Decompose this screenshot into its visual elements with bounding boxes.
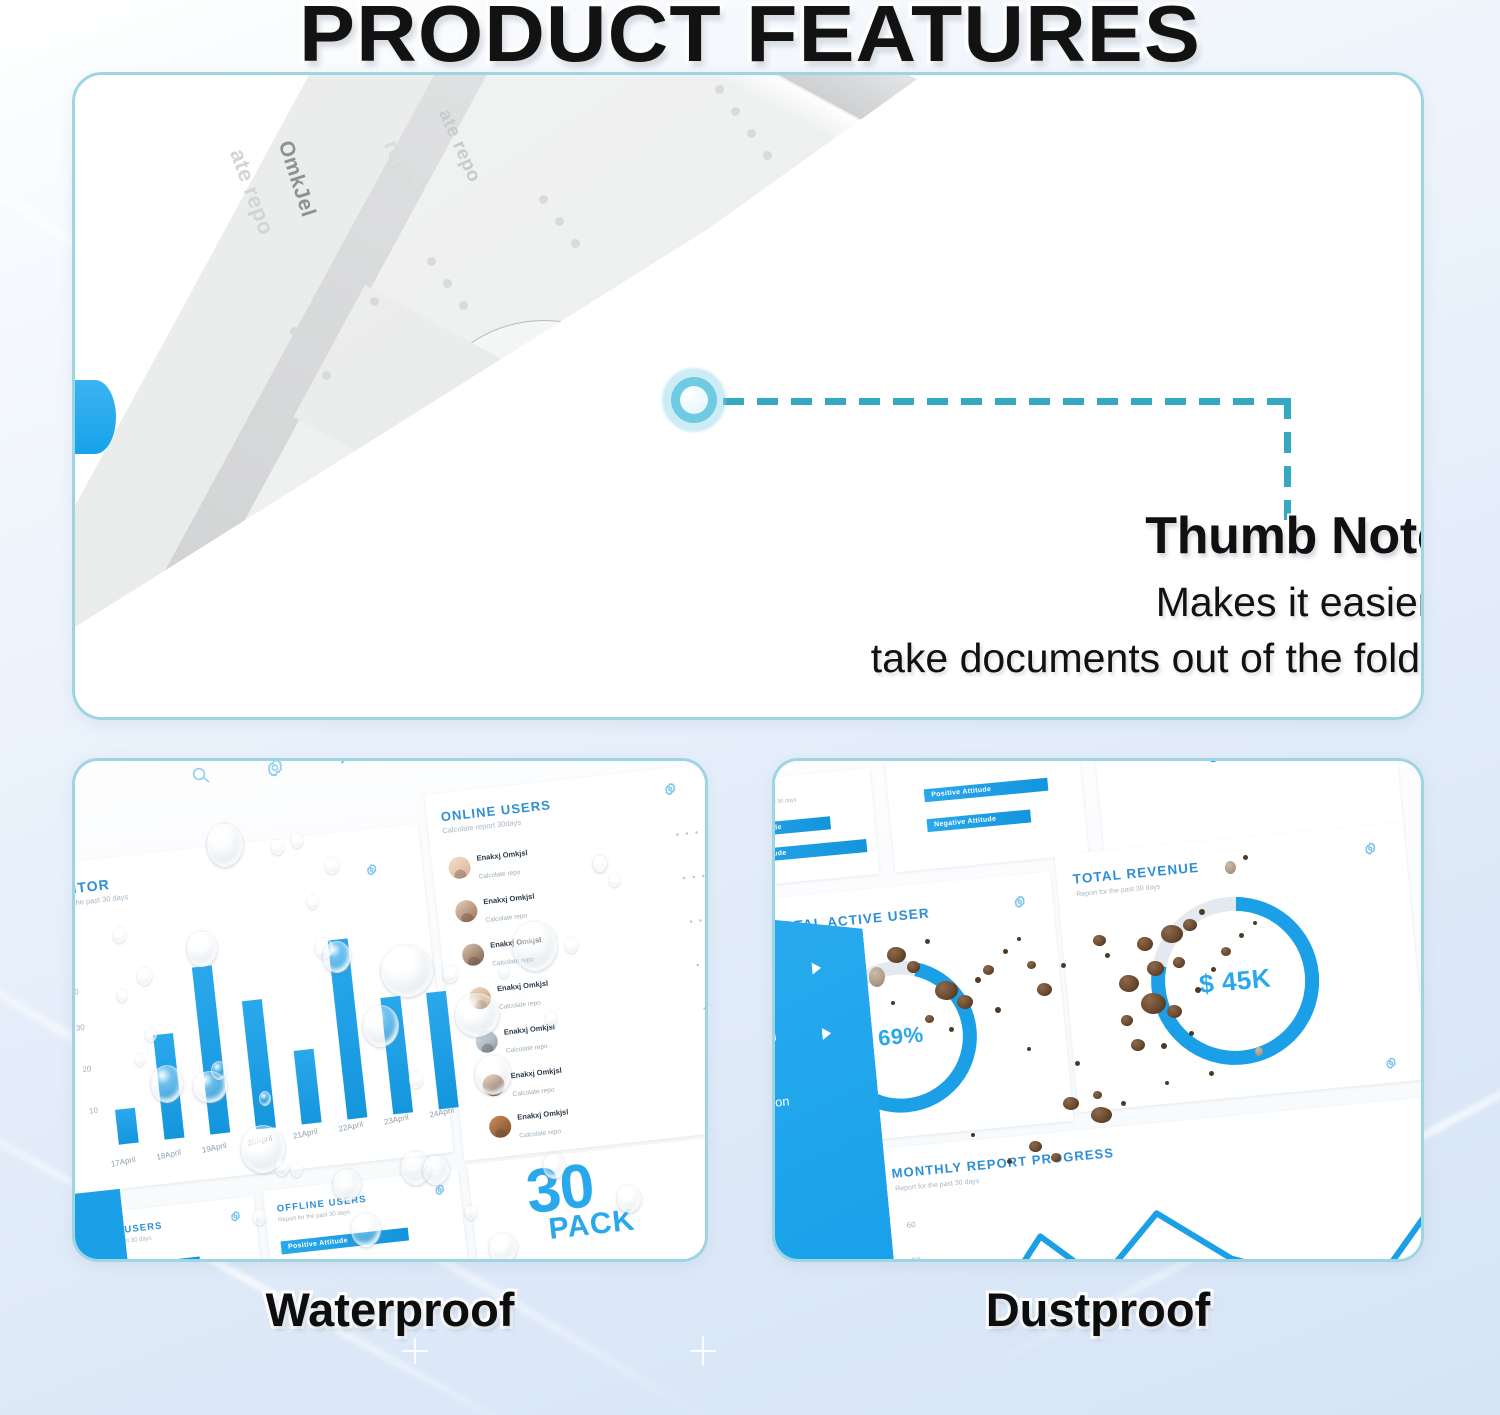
list-item-name: Enakxj Omkjsl xyxy=(517,1107,569,1122)
avatar xyxy=(447,855,471,879)
gear-icon[interactable] xyxy=(229,1210,242,1225)
list-item-meta: Calcolate repo xyxy=(499,1000,541,1012)
positive-attitude-bar: Positive Attitude xyxy=(772,816,831,840)
list-item-meta: Calcolate repo xyxy=(478,869,520,881)
callout-subtitle-line-1: Makes it easier to xyxy=(675,575,1424,631)
y-axis-tick-label: 10 xyxy=(89,1106,99,1116)
list-item[interactable]: Enakxj Omkjsl Calcolate repo xyxy=(487,1101,571,1146)
waterproof-dashboard-document: MONITOR Report for the past 30 days 40 3… xyxy=(72,758,708,1262)
x-axis-tick-label: 21April xyxy=(292,1127,318,1141)
card-subtitle: Report for the past 30 days xyxy=(772,797,797,809)
page-title: PRODUCT FEATURES xyxy=(0,0,1500,74)
folder-illustration: ate repo OmkJel repo ate repo xyxy=(75,75,1421,717)
analytics-icon[interactable] xyxy=(338,758,360,771)
row-menu-icon[interactable]: • • • xyxy=(682,871,707,884)
card-subtitle: Report for the past 30 days xyxy=(895,1178,980,1193)
list-item[interactable]: Enakxj Omkjsl Calcolate repo xyxy=(460,929,544,974)
waterproof-feature-panel: MONITOR Report for the past 30 days 40 3… xyxy=(72,758,708,1262)
monitor-card: MONITOR Report for the past 30 days 40 3… xyxy=(72,824,454,1196)
negative-attitude-bar: Negative Attitude xyxy=(284,1260,393,1262)
x-axis-tick-label: 24April xyxy=(429,1106,455,1120)
pack-badge: 30 PACK xyxy=(524,1155,637,1245)
card-subtitle: Report for the past 30 days xyxy=(1076,884,1161,899)
callout-subtitle-line-2: take documents out of the folders xyxy=(675,631,1424,687)
x-axis-tick-label: 20April xyxy=(247,1134,273,1148)
gear-icon[interactable] xyxy=(433,1183,446,1198)
list-item-name: Enakxj Omkjsl xyxy=(483,892,535,907)
list-item-meta: Calcolate repo xyxy=(519,1128,561,1140)
top-left-users-card: USERS Report for the past 30 days Positi… xyxy=(772,768,879,890)
bar xyxy=(115,1108,139,1145)
bar xyxy=(153,1033,184,1140)
list-item[interactable]: Enakxj Omkjsl Calcolate repo xyxy=(453,886,537,931)
y-axis-tick-label: 60 xyxy=(906,1220,916,1230)
list-item[interactable]: Enakxj Omkjsl Calcolate repo xyxy=(467,973,551,1018)
list-item[interactable]: Enakxj Omkjsl Calcolate repo xyxy=(474,1016,558,1061)
list-item-name: Enakxj Omkjsl xyxy=(490,935,542,950)
list-item-meta: Calcolate repo xyxy=(506,1043,548,1055)
infographic-canvas: ate repo OmkJel repo ate repo xyxy=(0,0,1500,1415)
callout-title: Thumb Notch xyxy=(675,507,1424,565)
total-revenue-card: TOTAL REVENUE Report for the past 30 day… xyxy=(1055,822,1424,1112)
x-axis-tick-label: 19April xyxy=(201,1141,227,1155)
negative-attitude-bar: Negative Attitude xyxy=(927,809,1032,832)
bar xyxy=(380,996,413,1114)
dustproof-caption: Dustproof xyxy=(772,1282,1424,1337)
callout-subtitle: Makes it easier to take documents out of… xyxy=(675,575,1424,687)
thumb-notch-marker-icon[interactable] xyxy=(662,368,726,432)
pack-word: PACK xyxy=(547,1208,636,1243)
donut-value-label: $ 45K xyxy=(1144,889,1327,1072)
gear-icon[interactable] xyxy=(662,781,678,798)
callout-leader-line-horizontal xyxy=(723,398,1291,405)
avatar xyxy=(454,899,478,923)
list-item-name: Enakxj Omkjsl xyxy=(497,979,549,994)
avatar xyxy=(488,1115,512,1139)
gear-icon[interactable] xyxy=(263,758,286,779)
waterproof-caption: Waterproof xyxy=(72,1282,708,1337)
list-item-meta: Calcolate repo xyxy=(492,956,534,968)
dashboard-toolbar xyxy=(190,758,434,787)
row-menu-icon[interactable]: • • • xyxy=(689,914,708,927)
list-item[interactable]: Enakxj Omkjsl Calcolate repo xyxy=(481,1060,565,1105)
card-title: TOTAL REVENUE xyxy=(1072,860,1200,887)
list-item-name: Enakxj Omkjsl xyxy=(476,848,528,863)
list-item-meta: Calcolate repo xyxy=(512,1087,554,1099)
x-axis-tick-label: 23April xyxy=(383,1113,409,1127)
y-axis-tick-label: 40 xyxy=(72,987,79,997)
avatar xyxy=(475,1030,499,1054)
background-plus-mark xyxy=(690,1336,716,1366)
bar xyxy=(242,999,276,1129)
cart-icon[interactable] xyxy=(411,758,433,763)
list-item[interactable]: Enakxj Omkjsl Calcolate repo xyxy=(447,842,531,887)
card-title: OFFLINE USERS xyxy=(276,1194,367,1215)
pack-word: PACK xyxy=(1206,758,1306,767)
revenue-donut-chart: $ 45K xyxy=(1144,889,1327,1072)
row-menu-icon[interactable]: • • • xyxy=(696,958,708,971)
list-item-meta: Calcolate repo xyxy=(485,913,527,925)
row-menu-icon[interactable]: • • • xyxy=(702,1001,708,1014)
bar xyxy=(328,938,368,1119)
x-axis-tick-label: 17April xyxy=(110,1155,136,1169)
dustproof-dashboard-document: USERS Report for the past 30 days Positi… xyxy=(772,758,1424,1262)
pack-badge: 0 PACK xyxy=(1201,758,1306,767)
negative-attitude-bar: Negative Attitude xyxy=(772,839,867,866)
background-plus-mark xyxy=(402,1338,428,1364)
positive-attitude-bar: Positive Attitude xyxy=(924,778,1049,803)
dustproof-feature-panel: USERS Report for the past 30 days Positi… xyxy=(772,758,1424,1262)
avatar xyxy=(468,986,492,1010)
bar xyxy=(192,965,230,1134)
y-axis-tick-label: 20 xyxy=(82,1064,92,1074)
hero-feature-panel: ate repo OmkJel repo ate repo xyxy=(72,72,1424,720)
play-triangle-icon xyxy=(812,962,822,975)
card-title: MONTHLY REPORT PROGRESS xyxy=(891,1145,1115,1181)
list-item-name: Enakxj Omkjsl xyxy=(510,1066,562,1081)
gear-icon[interactable] xyxy=(365,863,380,879)
gear-icon[interactable] xyxy=(1363,841,1378,858)
offline-users-small-card: OFFLINE USERS Report for the past 30 day… xyxy=(263,1170,472,1262)
avatar xyxy=(481,1073,505,1097)
positive-attitude-bar: Positive Attitude xyxy=(280,1227,409,1254)
gear-icon[interactable] xyxy=(1012,894,1027,911)
list-item-name: Enakxj Omkjsl xyxy=(503,1022,555,1037)
y-axis-tick-label: 50 xyxy=(912,1256,922,1262)
online-users-list-card: ONLINE USERS Calcolate report 30days Ena… xyxy=(424,763,708,1161)
search-icon[interactable] xyxy=(190,764,212,787)
avatar xyxy=(461,943,485,967)
folder-index-tab xyxy=(74,380,116,454)
play-triangle-icon xyxy=(822,1027,832,1040)
row-menu-icon[interactable]: • • • xyxy=(675,827,700,840)
callout-leader-line-vertical xyxy=(1284,398,1291,520)
x-axis-tick-label: 22April xyxy=(338,1120,364,1134)
x-axis-tick-label: 18April xyxy=(156,1148,182,1162)
y-axis-tick-label: 30 xyxy=(75,1023,85,1033)
marker-core xyxy=(680,386,708,414)
bar xyxy=(294,1049,322,1125)
gear-icon[interactable] xyxy=(1384,1056,1398,1072)
hero-callout-text: Thumb Notch Makes it easier to take docu… xyxy=(675,507,1424,687)
